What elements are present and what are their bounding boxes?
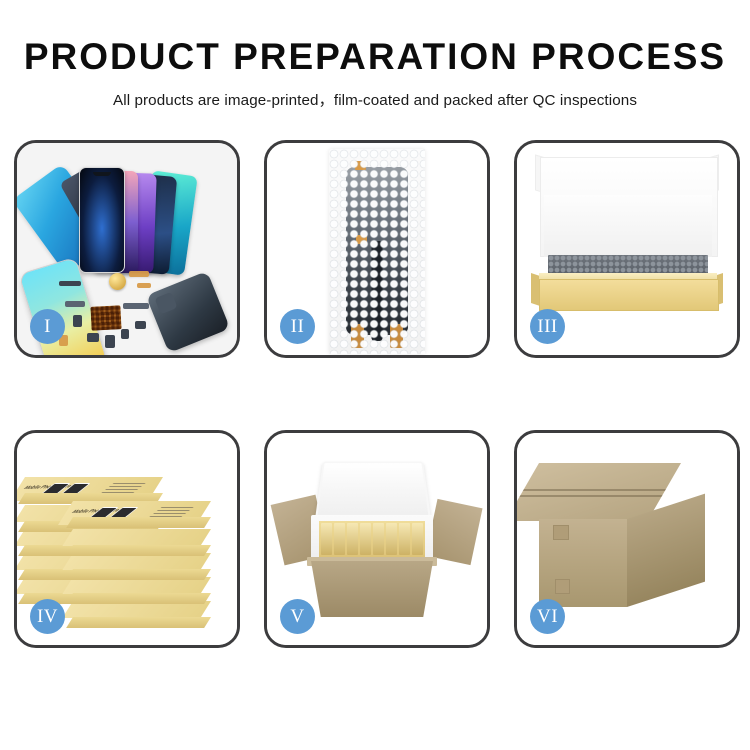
step-panel-1: I [14, 140, 240, 358]
foam-liner [544, 195, 712, 257]
stacked-box [73, 553, 211, 579]
stacked-box-labeled: Mobile Phone Spare Parts [25, 477, 163, 503]
inner-box [386, 523, 397, 555]
stacked-box [73, 529, 211, 555]
inner-boxes-group [319, 521, 425, 557]
infographic-page: PRODUCT PREPARATION PROCESS All products… [0, 0, 750, 750]
step-badge-3: III [530, 309, 565, 344]
carton-flap-right [425, 499, 482, 565]
spare-part [87, 333, 99, 342]
inner-box [321, 523, 332, 555]
chip-array [90, 305, 121, 331]
phone-back-housing [146, 271, 230, 353]
step-badge-2: II [280, 309, 315, 344]
carton-front [311, 561, 433, 617]
tape-patch [555, 579, 570, 594]
inner-box [373, 523, 384, 555]
step-panel-4: Mobile Phone Spare Parts [14, 430, 240, 648]
bubble-texture [329, 149, 425, 354]
page-subtitle: All products are image-printed，film-coat… [0, 88, 750, 110]
spare-part [121, 329, 129, 339]
box-front [66, 517, 211, 528]
flex-cable [123, 303, 149, 309]
tape-patch [553, 525, 569, 540]
step-badge-6: VI [530, 599, 565, 634]
header: PRODUCT PREPARATION PROCESS All products… [0, 0, 750, 110]
stacked-box [73, 601, 211, 627]
step-badge-1: I [30, 309, 65, 344]
flex-cable [129, 271, 149, 277]
box-front [66, 569, 211, 580]
bubble-wrap-bag [329, 149, 425, 354]
yellow-box-front [539, 279, 719, 311]
box-front [66, 617, 211, 628]
step-panel-3: III [514, 140, 740, 358]
spare-part [73, 315, 82, 327]
step-badge-4: IV [30, 599, 65, 634]
box-top [62, 529, 211, 546]
spare-part [105, 335, 115, 348]
stacked-box [73, 577, 211, 603]
step-panel-2: II [264, 140, 490, 358]
page-title: PRODUCT PREPARATION PROCESS [0, 38, 750, 77]
foam-lid [314, 462, 431, 524]
inner-box [360, 523, 371, 555]
flex-cable [65, 301, 85, 307]
step-panel-6: VI [514, 430, 740, 648]
step-panel-5: V [264, 430, 490, 648]
process-step-grid: I II [14, 140, 736, 680]
inner-box [412, 523, 423, 555]
inner-box [347, 523, 358, 555]
box-front [66, 545, 211, 556]
phone-fan-group [79, 165, 209, 273]
spare-part [135, 321, 146, 329]
step-badge-5: V [280, 599, 315, 634]
inner-box [334, 523, 345, 555]
spare-part [59, 281, 81, 286]
box-front [66, 593, 211, 604]
camera-ring-icon [109, 273, 126, 290]
stacked-box-labeled: Mobile Phone Spare Parts [73, 501, 211, 527]
phone-front-glass [79, 167, 125, 273]
flex-cable [137, 283, 151, 288]
inner-box [399, 523, 410, 555]
